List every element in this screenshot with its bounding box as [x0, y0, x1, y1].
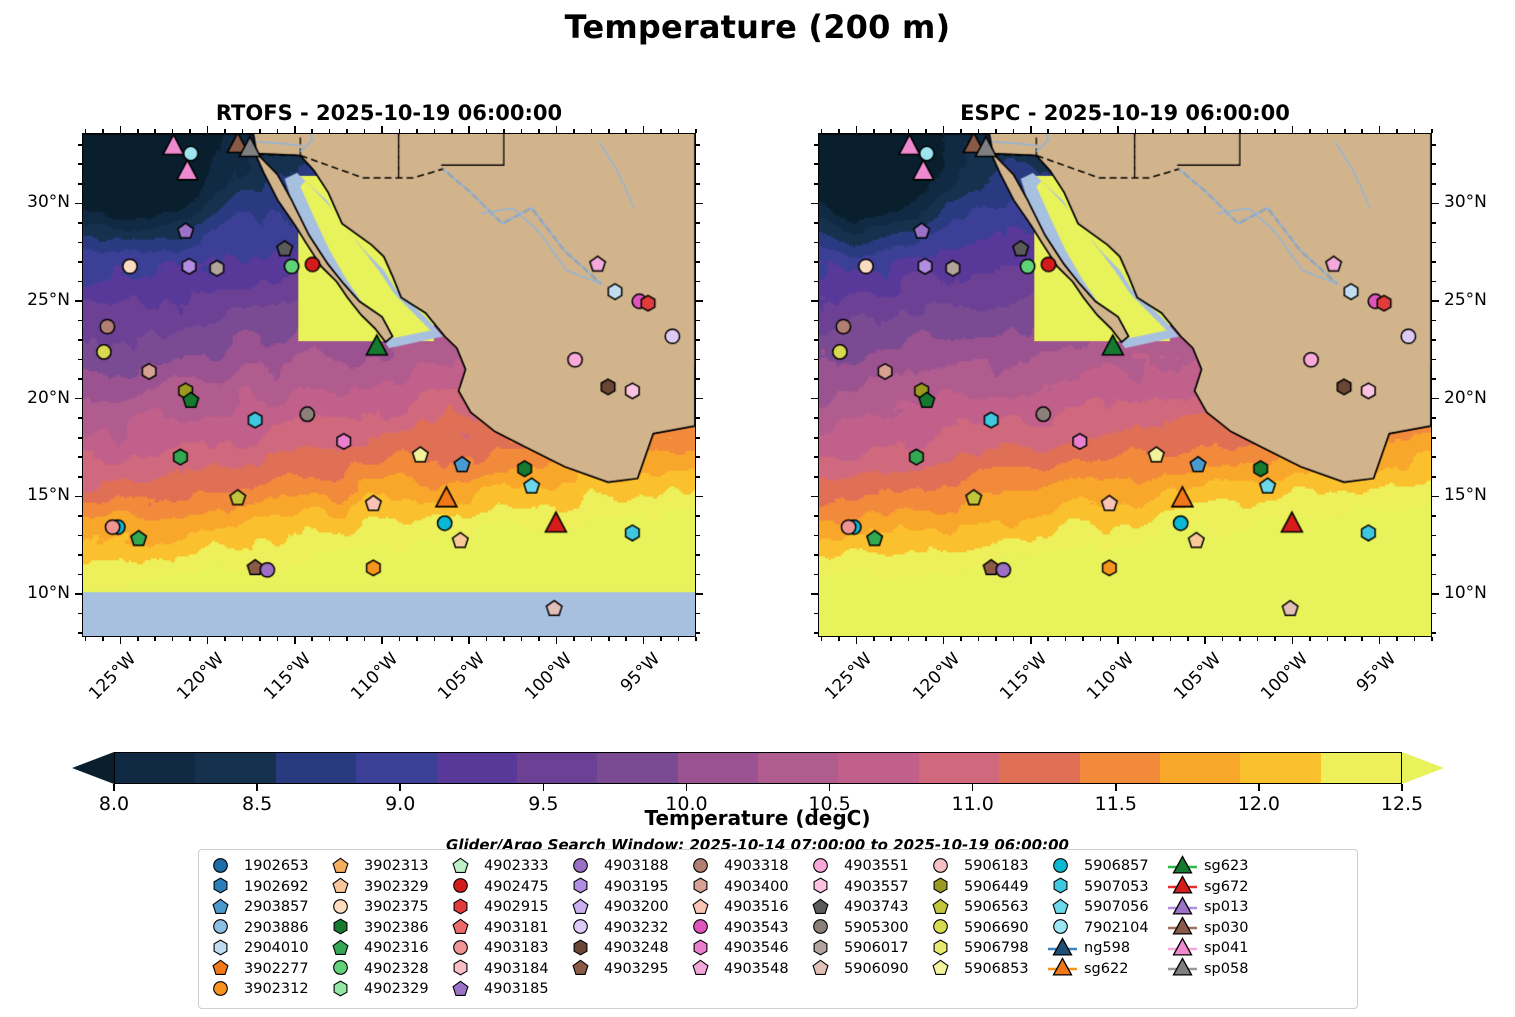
legend-marker-pentagon-icon: [447, 980, 481, 999]
colorbar-tick: [829, 784, 831, 791]
y-tick: [696, 496, 703, 498]
x-tick: [381, 637, 383, 644]
map-rtofs[interactable]: [82, 133, 696, 637]
legend-item-label: 4902329: [361, 981, 429, 997]
legend-item-label: 5906183: [961, 858, 1029, 874]
map-rtofs-canvas[interactable]: [83, 134, 695, 636]
y-tick-minor: [1432, 632, 1436, 634]
x-tick-minor: [1396, 637, 1398, 641]
legend-item-label: 4903318: [721, 858, 789, 874]
legend-item[interactable]: 5906857: [1047, 856, 1165, 877]
legend-marker-hexagon-icon: [567, 877, 601, 896]
legend-item[interactable]: 4903248: [567, 938, 685, 959]
legend-item-label: 4903188: [601, 858, 669, 874]
colorbar-tick: [256, 784, 258, 791]
colorbar-segment: [356, 753, 436, 783]
legend-column: 1902653190269229038572903886290401039022…: [207, 856, 325, 1002]
legend-marker-pentagon-icon: [1047, 898, 1081, 917]
y-tick-minor: [78, 456, 82, 458]
y-tick-minor: [78, 378, 82, 380]
legend-item-label: 4902475: [481, 879, 549, 895]
legend-item[interactable]: 4903188: [567, 856, 685, 877]
colorbar-tick: [543, 784, 545, 791]
y-tick-minor: [814, 613, 818, 615]
y-tick: [811, 496, 818, 498]
x-tick-minor: [1047, 129, 1049, 133]
legend-item-label: 3902313: [361, 858, 429, 874]
x-tick: [943, 126, 945, 133]
legend-item-label: 4903548: [721, 961, 789, 977]
y-tick: [75, 496, 82, 498]
y-tick: [75, 593, 82, 595]
x-tick-minor: [995, 637, 997, 641]
legend-item[interactable]: 4903200: [567, 897, 685, 918]
x-tick-minor: [224, 637, 226, 641]
legend-marker-circle-icon: [687, 918, 721, 937]
legend-item-label: 5906090: [841, 961, 909, 977]
legend-item-label: sg623: [1201, 858, 1248, 874]
x-tick: [1292, 637, 1294, 644]
x-tick-minor: [591, 129, 593, 133]
legend-marker-circle-icon: [807, 918, 841, 937]
colorbar-tick: [1115, 784, 1117, 791]
x-tick-minor: [154, 129, 156, 133]
x-tick-minor: [1100, 129, 1102, 133]
x-tick-minor: [1047, 637, 1049, 641]
y-tick-minor: [696, 339, 700, 341]
legend-item[interactable]: sg623: [1167, 856, 1277, 877]
legend-item[interactable]: 4903181: [447, 918, 565, 939]
x-tick: [1117, 637, 1119, 644]
legend-item[interactable]: 4903185: [447, 979, 565, 1000]
legend-item[interactable]: 4902915: [447, 897, 565, 918]
y-tick-minor: [814, 515, 818, 517]
x-tick-minor: [434, 129, 436, 133]
y-tick-minor: [696, 359, 700, 361]
legend-item[interactable]: 4902475: [447, 877, 565, 898]
colorbar-segment: [276, 753, 356, 783]
colorbar-segment: [1240, 753, 1320, 783]
y-tick-minor: [696, 417, 700, 419]
y-tick-minor: [696, 476, 700, 478]
x-tick-minor: [1187, 637, 1189, 641]
platform-legend: 1902653190269229038572903886290401039022…: [198, 849, 1358, 1009]
x-tick-minor: [625, 637, 627, 641]
x-tick-minor: [137, 637, 139, 641]
x-tick-minor: [311, 637, 313, 641]
x-tick-minor: [416, 637, 418, 641]
legend-item[interactable]: 5906090: [807, 959, 925, 980]
legend-item[interactable]: 2903886: [207, 918, 325, 939]
legend-item[interactable]: 5905300: [807, 918, 925, 939]
x-tick-minor: [172, 129, 174, 133]
y-tick-label: 30°N: [1444, 192, 1515, 212]
y-tick-minor: [696, 613, 700, 615]
colorbar-tick: [1401, 784, 1403, 791]
x-tick-minor: [1187, 129, 1189, 133]
x-tick-minor: [873, 129, 875, 133]
x-tick-label: 110°W: [1067, 649, 1138, 720]
y-tick-minor: [696, 144, 700, 146]
legend-item[interactable]: 3902313: [327, 856, 445, 877]
colorbar-segment: [919, 753, 999, 783]
y-tick: [75, 398, 82, 400]
x-tick-minor: [277, 637, 279, 641]
legend-item[interactable]: 4903543: [687, 918, 805, 939]
x-tick: [856, 126, 858, 133]
legend-item[interactable]: sg672: [1167, 877, 1277, 898]
legend-item[interactable]: 4903184: [447, 959, 565, 980]
x-tick: [207, 126, 209, 133]
legend-marker-hexagon-icon: [927, 939, 961, 958]
x-tick-minor: [503, 129, 505, 133]
y-tick: [811, 203, 818, 205]
colorbar-label: Temperature (degC): [0, 806, 1515, 830]
legend-item[interactable]: 4903400: [687, 877, 805, 898]
legend-item-label: 5906449: [961, 879, 1029, 895]
x-tick-minor: [890, 129, 892, 133]
x-tick-minor: [1082, 129, 1084, 133]
legend-item[interactable]: 3902277: [207, 959, 325, 980]
y-tick-minor: [1432, 456, 1436, 458]
legend-item-label: 4903195: [601, 879, 669, 895]
legend-item[interactable]: 4903551: [807, 856, 925, 877]
y-tick-minor: [1432, 359, 1436, 361]
x-tick-minor: [259, 637, 261, 641]
x-tick: [1379, 126, 1381, 133]
x-tick-minor: [1414, 129, 1416, 133]
y-tick-minor: [1432, 476, 1436, 478]
x-tick-minor: [1152, 637, 1154, 641]
legend-item[interactable]: 2903857: [207, 897, 325, 918]
x-tick-minor: [364, 637, 366, 641]
legend-marker-circle-icon: [1047, 918, 1081, 937]
x-tick-minor: [890, 637, 892, 641]
legend-column: 5906857590705359070567902104ng598sg622: [1047, 856, 1165, 1002]
y-tick-minor: [1432, 437, 1436, 439]
x-tick-minor: [873, 637, 875, 641]
colorbar: 8.08.59.09.510.010.511.011.512.012.5: [72, 752, 1444, 784]
y-tick: [1432, 398, 1439, 400]
legend-item[interactable]: 5906563: [927, 897, 1045, 918]
legend-marker-pentagon-icon: [447, 918, 481, 937]
legend-item[interactable]: 5906183: [927, 856, 1045, 877]
legend-item[interactable]: sp041: [1167, 938, 1277, 959]
legend-item[interactable]: 1902653: [207, 856, 325, 877]
map-espc[interactable]: [818, 133, 1432, 637]
colorbar-gradient: [114, 752, 1402, 784]
legend-item[interactable]: 5906017: [807, 938, 925, 959]
x-tick-minor: [189, 637, 191, 641]
y-tick-minor: [78, 261, 82, 263]
y-tick-minor: [1432, 222, 1436, 224]
x-tick-minor: [486, 637, 488, 641]
y-tick-minor: [1432, 320, 1436, 322]
y-tick-minor: [814, 535, 818, 537]
legend-column: 4903551490355749037435905300590601759060…: [807, 856, 925, 1002]
x-tick-minor: [346, 637, 348, 641]
y-tick-minor: [78, 359, 82, 361]
x-tick-minor: [1013, 637, 1015, 641]
legend-item[interactable]: sp058: [1167, 959, 1277, 980]
x-tick-minor: [1222, 129, 1224, 133]
legend-item-label: 5906857: [1081, 858, 1149, 874]
colorbar-tick: [399, 784, 401, 791]
y-tick-minor: [696, 632, 700, 634]
legend-item-label: 3902375: [361, 899, 429, 915]
x-tick-minor: [1152, 129, 1154, 133]
x-tick-minor: [1170, 129, 1172, 133]
legend-item[interactable]: 5906690: [927, 918, 1045, 939]
legend-item-label: 4903557: [841, 879, 909, 895]
x-tick: [381, 126, 383, 133]
x-tick-minor: [821, 637, 823, 641]
y-tick-minor: [78, 163, 82, 165]
x-tick-minor: [1431, 129, 1433, 133]
x-tick-minor: [242, 129, 244, 133]
x-tick-minor: [1135, 129, 1137, 133]
x-tick-minor: [1170, 637, 1172, 641]
y-tick: [811, 300, 818, 302]
legend-marker-hexagon-icon: [567, 939, 601, 958]
y-tick-minor: [814, 261, 818, 263]
legend-marker-circle-icon: [327, 898, 361, 917]
x-tick-minor: [538, 637, 540, 641]
legend-marker-triangle-line-icon: [1167, 959, 1201, 978]
legend-item-label: sg622: [1081, 961, 1128, 977]
legend-marker-triangle-line-icon: [1167, 898, 1201, 917]
figure-root: Temperature (200 m) RTOFS - 2025-10-19 0…: [0, 0, 1515, 1017]
legend-marker-triangle-line-icon: [1167, 918, 1201, 937]
legend-item[interactable]: ng598: [1047, 938, 1165, 959]
legend-item[interactable]: 4902333: [447, 856, 565, 877]
legend-item-label: 5906798: [961, 940, 1029, 956]
y-tick: [1432, 496, 1439, 498]
legend-marker-pentagon-icon: [807, 898, 841, 917]
legend-item[interactable]: 5906449: [927, 877, 1045, 898]
x-tick-minor: [660, 129, 662, 133]
legend-item[interactable]: sg622: [1047, 959, 1165, 980]
legend-marker-hexagon-icon: [807, 877, 841, 896]
y-tick-minor: [78, 476, 82, 478]
legend-item-label: 5906017: [841, 940, 909, 956]
x-tick-minor: [573, 129, 575, 133]
legend-column: 4903318490340049035164903543490354649035…: [687, 856, 805, 1002]
x-tick-minor: [102, 129, 104, 133]
legend-item-label: 4903295: [601, 961, 669, 977]
colorbar-segment: [1321, 753, 1401, 783]
legend-column: 5906183590644959065635906690590679859068…: [927, 856, 1045, 1002]
legend-marker-circle-icon: [567, 857, 601, 876]
x-tick-label: 115°W: [244, 649, 315, 720]
x-tick: [1204, 126, 1206, 133]
legend-item[interactable]: sp030: [1167, 918, 1277, 939]
legend-item[interactable]: 4903516: [687, 897, 805, 918]
x-tick-minor: [978, 129, 980, 133]
x-tick: [556, 637, 558, 644]
legend-marker-circle-icon: [687, 857, 721, 876]
x-tick-minor: [608, 129, 610, 133]
y-tick-minor: [696, 183, 700, 185]
panel-espc-title: ESPC - 2025-10-19 06:00:00: [818, 101, 1432, 125]
x-tick-label: 105°W: [1155, 649, 1226, 720]
legend-item[interactable]: 4903318: [687, 856, 805, 877]
y-tick-minor: [814, 144, 818, 146]
x-tick-minor: [329, 637, 331, 641]
legend-item-label: 4903546: [721, 940, 789, 956]
legend-item-label: 2903857: [241, 899, 309, 915]
x-tick-minor: [821, 129, 823, 133]
y-tick-label: 25°N: [0, 290, 70, 310]
legend-item-label: sp030: [1201, 920, 1248, 936]
x-tick-minor: [908, 129, 910, 133]
legend-marker-triangle-line-icon: [1047, 939, 1081, 958]
y-tick-minor: [696, 535, 700, 537]
x-tick: [1030, 637, 1032, 644]
colorbar-segment: [517, 753, 597, 783]
x-tick-label: 95°W: [1329, 649, 1400, 720]
y-tick-minor: [696, 574, 700, 576]
legend-item[interactable]: sp013: [1167, 897, 1277, 918]
x-tick-minor: [608, 637, 610, 641]
y-tick-minor: [814, 163, 818, 165]
x-tick-minor: [1327, 129, 1329, 133]
y-tick-minor: [696, 320, 700, 322]
legend-item-label: 4903543: [721, 920, 789, 936]
colorbar-segment: [195, 753, 275, 783]
legend-marker-circle-icon: [447, 877, 481, 896]
legend-item[interactable]: 4903557: [807, 877, 925, 898]
y-tick-minor: [1432, 417, 1436, 419]
x-tick-minor: [978, 637, 980, 641]
legend-item[interactable]: 5906853: [927, 959, 1045, 980]
legend-item[interactable]: 4902329: [327, 979, 445, 1000]
legend-item[interactable]: 4902328: [327, 959, 445, 980]
y-tick-minor: [696, 261, 700, 263]
legend-marker-triangle-line-icon: [1047, 959, 1081, 978]
panel-rtofs-title: RTOFS - 2025-10-19 06:00:00: [82, 101, 696, 125]
legend-item[interactable]: 4903743: [807, 897, 925, 918]
y-tick-minor: [814, 554, 818, 556]
y-tick: [1432, 593, 1439, 595]
colorbar-segment: [678, 753, 758, 783]
legend-item[interactable]: 3902375: [327, 897, 445, 918]
legend-marker-triangle-line-icon: [1167, 877, 1201, 896]
x-tick-minor: [1396, 129, 1398, 133]
x-tick-minor: [925, 637, 927, 641]
legend-item[interactable]: 4903232: [567, 918, 685, 939]
legend-item[interactable]: 4903548: [687, 959, 805, 980]
legend-marker-circle-icon: [207, 857, 241, 876]
x-tick-minor: [102, 637, 104, 641]
legend-item-label: 7902104: [1081, 920, 1149, 936]
y-tick-minor: [78, 632, 82, 634]
y-tick-minor: [814, 320, 818, 322]
colorbar-segment: [758, 753, 838, 783]
legend-marker-pentagon-icon: [927, 898, 961, 917]
x-tick-label: 95°W: [593, 649, 664, 720]
legend-marker-circle-icon: [327, 959, 361, 978]
colorbar-segment: [1160, 753, 1240, 783]
x-tick-minor: [137, 129, 139, 133]
x-tick-minor: [486, 129, 488, 133]
legend-item[interactable]: 5906798: [927, 938, 1045, 959]
y-tick-minor: [78, 281, 82, 283]
legend-marker-pentagon-icon: [687, 959, 721, 978]
legend-marker-pentagon-icon: [447, 857, 481, 876]
legend-item[interactable]: 4903195: [567, 877, 685, 898]
legend-item-label: 4903184: [481, 961, 549, 977]
y-tick-minor: [814, 417, 818, 419]
legend-marker-circle-icon: [207, 918, 241, 937]
y-tick-minor: [814, 222, 818, 224]
colorbar-tick: [686, 784, 688, 791]
x-tick-minor: [1274, 637, 1276, 641]
x-tick-minor: [678, 129, 680, 133]
legend-item[interactable]: 4903546: [687, 938, 805, 959]
legend-item[interactable]: 2904010: [207, 938, 325, 959]
x-tick-label: 110°W: [331, 649, 402, 720]
x-tick-minor: [1082, 637, 1084, 641]
legend-item[interactable]: 5907053: [1047, 877, 1165, 898]
legend-item[interactable]: 1902692: [207, 877, 325, 898]
y-tick-minor: [1432, 144, 1436, 146]
x-tick-label: 120°W: [893, 649, 964, 720]
legend-item[interactable]: 4903183: [447, 938, 565, 959]
y-tick-minor: [1432, 183, 1436, 185]
legend-column: 4903188490319549032004903232490324849032…: [567, 856, 685, 1002]
x-tick: [1030, 126, 1032, 133]
x-tick-label: 125°W: [70, 649, 141, 720]
y-tick: [811, 398, 818, 400]
x-tick-minor: [1065, 637, 1067, 641]
x-tick-minor: [695, 637, 697, 641]
y-tick: [1432, 203, 1439, 205]
legend-item[interactable]: 3902386: [327, 918, 445, 939]
legend-marker-hexagon-icon: [447, 898, 481, 917]
x-tick-minor: [399, 129, 401, 133]
y-tick-minor: [1432, 281, 1436, 283]
x-tick: [856, 637, 858, 644]
y-tick-minor: [1432, 339, 1436, 341]
legend-marker-hexagon-icon: [687, 877, 721, 896]
legend-item[interactable]: 7902104: [1047, 918, 1165, 939]
colorbar-segment: [838, 753, 918, 783]
legend-item[interactable]: 5907056: [1047, 897, 1165, 918]
legend-marker-pentagon-icon: [327, 939, 361, 958]
y-tick-minor: [814, 183, 818, 185]
x-tick-label: 100°W: [1242, 649, 1313, 720]
legend-marker-circle-icon: [927, 918, 961, 937]
y-tick-minor: [1432, 613, 1436, 615]
x-tick-minor: [1344, 637, 1346, 641]
page-title: Temperature (200 m): [0, 8, 1515, 46]
legend-item[interactable]: 4902316: [327, 938, 445, 959]
x-tick-minor: [85, 129, 87, 133]
legend-item[interactable]: 4903295: [567, 959, 685, 980]
colorbar-segment: [597, 753, 677, 783]
legend-item[interactable]: 3902312: [207, 979, 325, 1000]
y-tick-minor: [1432, 242, 1436, 244]
y-tick: [75, 203, 82, 205]
x-tick-minor: [925, 129, 927, 133]
legend-item-label: 4902333: [481, 858, 549, 874]
map-espc-canvas[interactable]: [819, 134, 1431, 636]
x-tick-minor: [1361, 129, 1363, 133]
legend-item-label: sp041: [1201, 940, 1248, 956]
y-tick-minor: [814, 378, 818, 380]
legend-item[interactable]: 3902329: [327, 877, 445, 898]
